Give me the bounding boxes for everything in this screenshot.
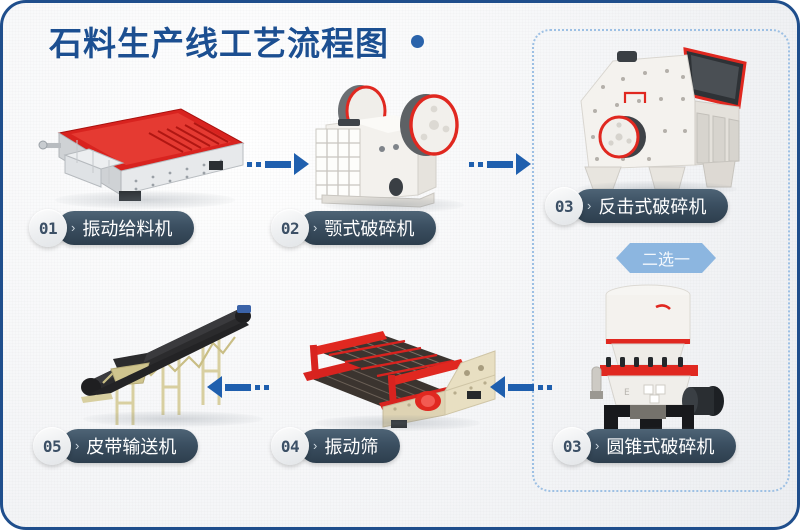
- arrow-dot: [538, 385, 543, 390]
- page-title: 石料生产线工艺流程图: [49, 17, 389, 65]
- jaw-crusher-image: [308, 77, 473, 212]
- title-dot-icon: [411, 35, 424, 48]
- chevron-right-icon: ›: [587, 199, 591, 212]
- chevron-right-icon: ›: [595, 439, 599, 452]
- arrow-dot: [264, 385, 269, 390]
- step-label-03-cone[interactable]: 03 › 圆锥式破碎机: [553, 427, 736, 465]
- step-label-bubble: › 皮带输送机: [61, 429, 198, 463]
- arrow-dot: [547, 385, 552, 390]
- chevron-right-icon: ›: [71, 221, 75, 234]
- vibrating-screen-image: [295, 315, 500, 430]
- step-number-badge: 04: [271, 427, 309, 465]
- svg-text:E: E: [624, 388, 630, 398]
- step-label-text: 颚式破碎机: [324, 215, 414, 241]
- step-label-text: 圆锥式破碎机: [606, 433, 714, 459]
- belt-conveyor-image: [77, 303, 282, 431]
- step-label-text: 反击式破碎机: [598, 193, 706, 219]
- arrow-head-icon: [490, 376, 505, 398]
- choose-one-of-two-badge: 二选一: [616, 243, 716, 273]
- chevron-right-icon: ›: [313, 439, 317, 452]
- choose-one-of-two-label: 二选一: [642, 246, 690, 270]
- step-label-04[interactable]: 04 › 振动筛: [271, 427, 400, 465]
- arrow-shaft: [487, 161, 513, 168]
- step-label-text: 振动筛: [324, 433, 378, 459]
- step-number-badge: 02: [271, 209, 309, 247]
- step-label-01[interactable]: 01 › 振动给料机: [29, 209, 194, 247]
- step-number-badge: 05: [33, 427, 71, 465]
- vibrating-feeder-image: [31, 99, 251, 209]
- arrow-dot: [256, 162, 261, 167]
- step-number-badge: 03: [553, 427, 591, 465]
- arrow-dot: [478, 162, 483, 167]
- arrow-dot: [469, 162, 474, 167]
- arrow-screen-to-belt: [207, 376, 269, 398]
- arrow-head-icon: [516, 153, 531, 175]
- title-block: 石料生产线工艺流程图: [49, 17, 424, 65]
- arrow-dot: [255, 385, 260, 390]
- chevron-right-icon: ›: [75, 439, 79, 452]
- chevron-right-icon: ›: [313, 221, 317, 234]
- arrow-head-icon: [294, 153, 309, 175]
- arrow-feeder-to-jaw: [247, 153, 309, 175]
- arrow-crusher-to-screen: [490, 376, 552, 398]
- arrow-shaft: [265, 161, 291, 168]
- step-label-02[interactable]: 02 › 颚式破碎机: [271, 209, 436, 247]
- arrow-shaft: [225, 384, 251, 391]
- step-label-bubble: › 颚式破碎机: [299, 211, 436, 245]
- arrow-dot: [247, 162, 252, 167]
- step-label-text: 振动给料机: [82, 215, 172, 241]
- arrow-head-icon: [207, 376, 222, 398]
- arrow-jaw-to-crusher-group: [469, 153, 531, 175]
- cone-crusher-image: E: [586, 277, 756, 442]
- flowchart-canvas: 石料生产线工艺流程图: [0, 0, 800, 530]
- step-number-badge: 03: [545, 187, 583, 225]
- step-label-text: 皮带输送机: [86, 433, 176, 459]
- step-label-bubble: › 圆锥式破碎机: [581, 429, 736, 463]
- step-label-bubble: › 振动筛: [299, 429, 400, 463]
- step-label-bubble: › 振动给料机: [57, 211, 194, 245]
- step-label-05[interactable]: 05 › 皮带输送机: [33, 427, 198, 465]
- step-label-bubble: › 反击式破碎机: [573, 189, 728, 223]
- step-label-03-impact[interactable]: 03 › 反击式破碎机: [545, 187, 728, 225]
- step-number-badge: 01: [29, 209, 67, 247]
- impact-crusher-image: [563, 41, 763, 196]
- arrow-shaft: [508, 384, 534, 391]
